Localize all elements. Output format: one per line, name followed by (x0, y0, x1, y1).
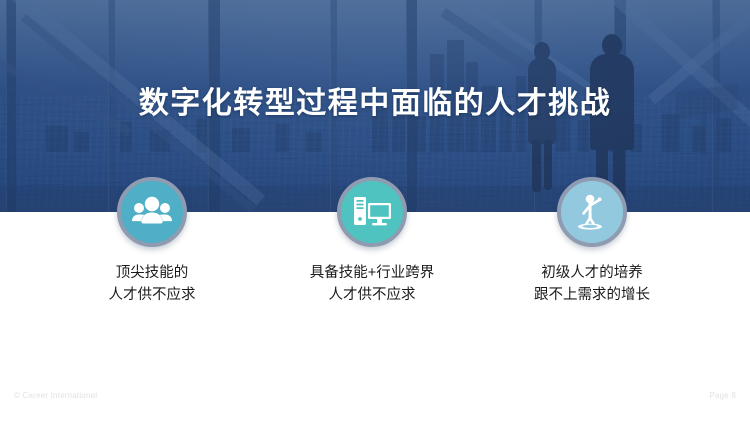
person-presenting-icon (574, 193, 610, 231)
slide-canvas: 数字化转型过程中面临的人才挑战 (0, 0, 750, 422)
desktop-computer-icon (352, 194, 392, 230)
caption-line-2: 跟不上需求的增长 (477, 284, 707, 306)
badge-junior-talent[interactable] (557, 177, 627, 247)
caption-line-1: 顶尖技能的 (37, 262, 267, 284)
caption-line-2: 人才供不应求 (37, 284, 267, 306)
group-of-people-icon (132, 195, 172, 229)
caption-line-1: 初级人才的培养 (477, 262, 707, 284)
caption-line-2: 人才供不应求 (257, 284, 487, 306)
icon-badge-row (0, 0, 750, 422)
badge-top-skills[interactable] (117, 177, 187, 247)
badge-cross-industry-skills[interactable] (337, 177, 407, 247)
caption-top-skills: 顶尖技能的 人才供不应求 (37, 262, 267, 306)
footer-copyright: © Career International (14, 391, 97, 400)
caption-junior-talent: 初级人才的培养 跟不上需求的增长 (477, 262, 707, 306)
caption-cross-industry-skills: 具备技能+行业跨界 人才供不应求 (257, 262, 487, 306)
caption-line-1: 具备技能+行业跨界 (257, 262, 487, 284)
footer-page-number: Page 8 (709, 391, 736, 400)
